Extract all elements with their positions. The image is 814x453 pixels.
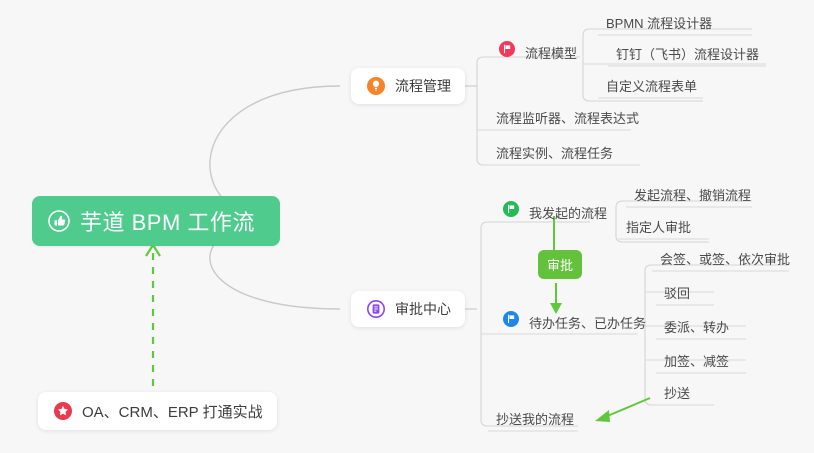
label-reject: 驳回 (664, 287, 690, 300)
label-carbon-copy: 抄送 (664, 387, 690, 400)
node-dingtalk-feishu-designer[interactable]: 钉钉（飞书）流程设计器 (608, 42, 767, 66)
label-dingtalk-feishu-designer: 钉钉（飞书）流程设计器 (616, 48, 759, 61)
node-bpmn-designer[interactable]: BPMN 流程设计器 (598, 11, 720, 35)
node-delegate-transfer[interactable]: 委派、转办 (656, 315, 737, 339)
node-integration-practice[interactable]: OA、CRM、ERP 打通实战 (38, 392, 277, 430)
flag-red-icon (496, 38, 518, 60)
label-custom-process-form: 自定义流程表单 (606, 80, 697, 93)
label-my-initiated-process: 我发起的流程 (529, 207, 607, 220)
node-assignee-approval[interactable]: 指定人审批 (618, 215, 699, 239)
node-process-instance-task[interactable]: 流程实例、流程任务 (488, 141, 621, 165)
lightbulb-icon (365, 75, 387, 97)
label-todo-done-tasks: 待办任务、已办任务 (529, 317, 646, 330)
label-process-listener-expression: 流程监听器、流程表达式 (496, 112, 639, 125)
label-integration-practice: OA、CRM、ERP 打通实战 (82, 401, 263, 422)
node-add-remove-sign[interactable]: 加签、减签 (656, 349, 737, 373)
arrow-bottom-dashed-head (146, 245, 160, 256)
thumbs-up-icon (48, 210, 70, 232)
label-process-instance-task: 流程实例、流程任务 (496, 147, 613, 160)
label-cc-to-me-process: 抄送我的流程 (496, 413, 574, 426)
node-custom-process-form[interactable]: 自定义流程表单 (598, 74, 705, 98)
label-process-model: 流程模型 (525, 47, 577, 60)
label-bpmn-designer: BPMN 流程设计器 (606, 17, 712, 30)
label-start-cancel-process: 发起流程、撤销流程 (634, 189, 751, 202)
label-countersign-or-sequential: 会签、或签、依次审批 (660, 253, 790, 266)
node-countersign-or-sequential[interactable]: 会签、或签、依次审批 (652, 247, 798, 271)
node-todo-done-tasks[interactable]: 待办任务、已办任务 (494, 311, 654, 335)
branch-approval-center[interactable]: 审批中心 (351, 291, 465, 327)
branch-process-management[interactable]: 流程管理 (351, 68, 465, 104)
approval-badge: 审批 (538, 250, 582, 279)
mindmap-canvas: 芋道 BPM 工作流 流程管理 流程模型 BPMN 流程设计器 钉钉（飞书）流程 (0, 0, 814, 453)
root-label: 芋道 BPM 工作流 (80, 205, 255, 237)
clipboard-icon (365, 298, 387, 320)
node-process-model[interactable]: 流程模型 (490, 41, 585, 65)
node-start-cancel-process[interactable]: 发起流程、撤销流程 (626, 183, 759, 207)
node-process-listener-expression[interactable]: 流程监听器、流程表达式 (488, 106, 647, 130)
arrow-cc-head (595, 410, 610, 422)
label-assignee-approval: 指定人审批 (626, 221, 691, 234)
node-carbon-copy[interactable]: 抄送 (656, 381, 698, 405)
node-my-initiated-process[interactable]: 我发起的流程 (494, 201, 615, 225)
root-node[interactable]: 芋道 BPM 工作流 (32, 196, 280, 246)
node-reject[interactable]: 驳回 (656, 281, 698, 305)
flag-blue-icon (500, 308, 522, 330)
branch-label-process-management: 流程管理 (395, 76, 451, 96)
flag-green-icon (500, 198, 522, 220)
arrow-cc-line (605, 398, 650, 417)
star-icon (52, 400, 74, 422)
branch-label-approval-center: 审批中心 (395, 299, 451, 319)
label-delegate-transfer: 委派、转办 (664, 321, 729, 334)
label-add-remove-sign: 加签、减签 (664, 355, 729, 368)
node-cc-to-me-process[interactable]: 抄送我的流程 (488, 407, 582, 431)
